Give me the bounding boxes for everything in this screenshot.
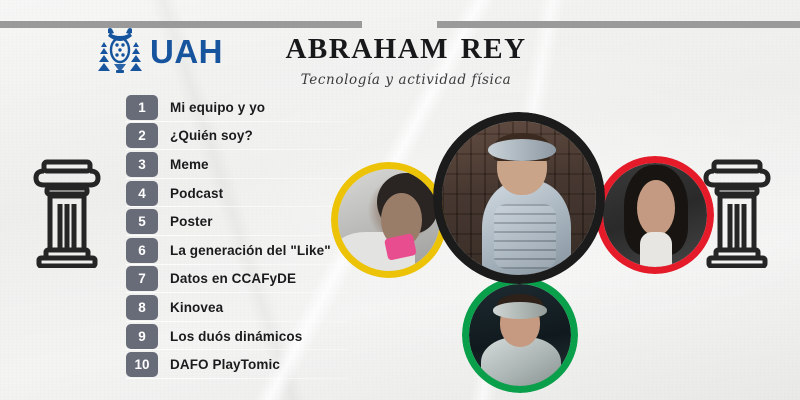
- agenda-number-badge: 10: [126, 352, 158, 377]
- agenda-item-label: Los duós dinámicos: [170, 329, 302, 344]
- slide-canvas: UAH Abraham Rey Tecnología y actividad f…: [0, 0, 800, 400]
- agenda-number-badge: 2: [126, 123, 158, 148]
- agenda-item-label: La generación del "Like": [170, 243, 331, 258]
- list-item[interactable]: 9 Los duós dinámicos: [126, 322, 341, 351]
- agenda-item-label: Podcast: [170, 186, 223, 201]
- agenda-item-label: Mi equipo y yo: [170, 100, 265, 115]
- agenda-item-label: Datos en CCAFyDE: [170, 271, 296, 286]
- agenda-number-badge: 8: [126, 295, 158, 320]
- agenda-item-label: Meme: [170, 157, 209, 172]
- list-item[interactable]: 2 ¿Quién soy?: [126, 122, 341, 151]
- list-item[interactable]: 3 Meme: [126, 150, 341, 179]
- agenda-item-label: ¿Quién soy?: [170, 128, 253, 143]
- page-subtitle: Tecnología y actividad física: [256, 72, 556, 88]
- agenda-item-label: Kinovea: [170, 300, 223, 315]
- agenda-item-label: DAFO PlayTomic: [170, 357, 280, 372]
- photo-portrait-statue-man[interactable]: [433, 112, 605, 284]
- list-item[interactable]: 8 Kinovea: [126, 293, 341, 322]
- photo-ring-red: [596, 156, 714, 274]
- photo-ring-black: [433, 112, 605, 284]
- list-item[interactable]: 5 Poster: [126, 207, 341, 236]
- uah-logo-text: UAH: [150, 35, 223, 68]
- row-divider: [126, 378, 349, 379]
- agenda-number-badge: 5: [126, 209, 158, 234]
- page-title: Abraham Rey: [256, 24, 556, 65]
- agenda-number-badge: 3: [126, 152, 158, 177]
- agenda-number-badge: 4: [126, 181, 158, 206]
- agenda-number-badge: 9: [126, 324, 158, 349]
- photo-portrait-woman-smiling[interactable]: [331, 162, 447, 278]
- agenda-number-badge: 6: [126, 238, 158, 263]
- agenda-number-badge: 1: [126, 95, 158, 120]
- agenda-list: 1 Mi equipo y yo 2 ¿Quién soy? 3 Meme 4 …: [126, 93, 341, 379]
- list-item[interactable]: 4 Podcast: [126, 179, 341, 208]
- photo-ring-green: [462, 277, 578, 393]
- photo-ring-yellow: [331, 162, 447, 278]
- list-item[interactable]: 6 La generación del "Like": [126, 236, 341, 265]
- uah-crest-icon: [96, 26, 144, 76]
- photo-portrait-statue-man-2[interactable]: [462, 277, 578, 393]
- list-item[interactable]: 10 DAFO PlayTomic: [126, 350, 341, 379]
- list-item[interactable]: 1 Mi equipo y yo: [126, 93, 341, 122]
- agenda-item-label: Poster: [170, 214, 213, 229]
- list-item[interactable]: 7 Datos en CCAFyDE: [126, 265, 341, 294]
- greek-column-icon: [30, 152, 104, 268]
- uah-logo: UAH: [96, 26, 223, 76]
- agenda-number-badge: 7: [126, 266, 158, 291]
- title-block: Abraham Rey Tecnología y actividad físic…: [256, 24, 556, 88]
- photo-portrait-woman[interactable]: [596, 156, 714, 274]
